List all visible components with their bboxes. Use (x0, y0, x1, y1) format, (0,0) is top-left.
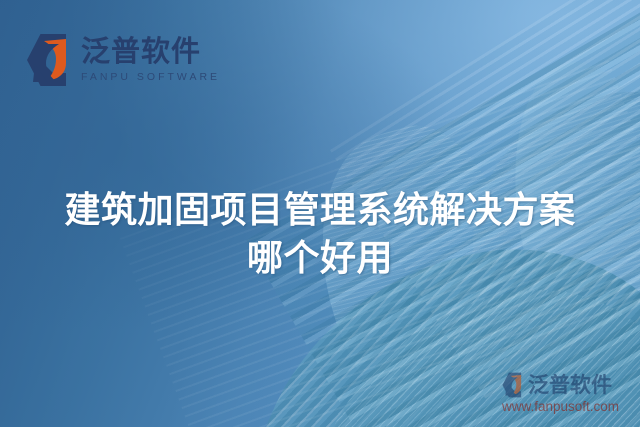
fanpu-hexagon-sail-logo-icon (502, 372, 524, 398)
watermark-brand-name: 泛普软件 (528, 375, 612, 396)
page-title-line-1: 建筑加固项目管理系统解决方案 (64, 189, 575, 230)
marketing-banner: 泛普软件 FANPU SOFTWARE 建筑加固项目管理系统解决方案 哪个好用 … (0, 0, 640, 427)
fanpu-hexagon-sail-logo-icon (26, 33, 72, 87)
watermark-url: www.fanpusoft.com (502, 400, 636, 414)
brand-name-cn: 泛普软件 (81, 37, 220, 67)
watermark-logo-row: 泛普软件 (502, 372, 636, 398)
brand-logo: 泛普软件 FANPU SOFTWARE (26, 33, 220, 87)
brand-logo-wordmark: 泛普软件 FANPU SOFTWARE (81, 37, 220, 82)
page-title-line-2: 哪个好用 (0, 234, 640, 282)
brand-name-en: FANPU SOFTWARE (81, 71, 220, 83)
page-title: 建筑加固项目管理系统解决方案 哪个好用 (0, 186, 640, 282)
watermark: 泛普软件 www.fanpusoft.com (502, 372, 636, 414)
